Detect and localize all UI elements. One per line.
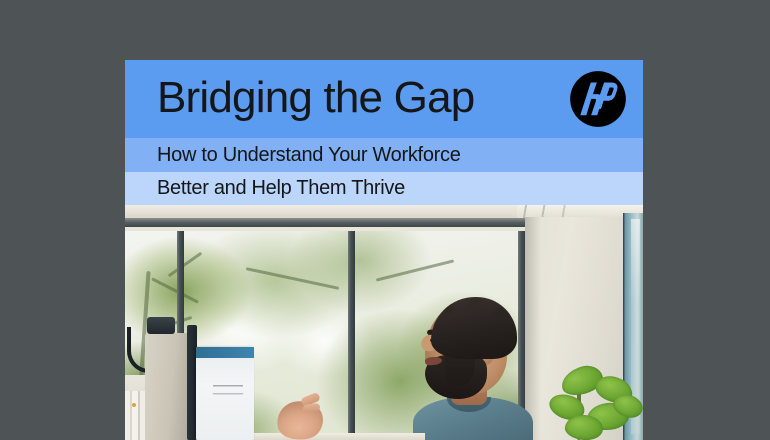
- webcam: [147, 317, 175, 334]
- cover-photo: [125, 205, 643, 440]
- desk-surface: [245, 433, 425, 440]
- book-label-dot: [132, 403, 136, 407]
- cover-subtitle-line-2: Better and Help Them Thrive: [157, 178, 405, 198]
- tree-branch: [168, 252, 202, 277]
- cover-subtitle-band-1: How to Understand Your Workforce: [125, 138, 643, 172]
- tree-branch: [246, 267, 340, 290]
- cover-title-band: Bridging the Gap: [125, 60, 643, 138]
- monitor: [145, 333, 193, 440]
- cover-title: Bridging the Gap: [157, 76, 474, 120]
- cover-subtitle-band-2: Better and Help Them Thrive: [125, 172, 643, 205]
- tree-branch: [376, 259, 454, 281]
- window-mullion: [348, 231, 355, 440]
- second-screen-title-bar: [196, 347, 254, 358]
- ebook-cover-card[interactable]: Bridging the Gap How to Understand Your …: [125, 60, 643, 440]
- window-head-frame: [125, 218, 525, 227]
- wall-shadow: [525, 217, 541, 440]
- cover-subtitle-line-1: How to Understand Your Workforce: [157, 145, 461, 165]
- tree-branch: [151, 277, 199, 303]
- screenshot-viewport: Bridging the Gap How to Understand Your …: [0, 0, 770, 440]
- hp-logo-icon: [569, 70, 627, 128]
- second-screen-content: [213, 385, 243, 401]
